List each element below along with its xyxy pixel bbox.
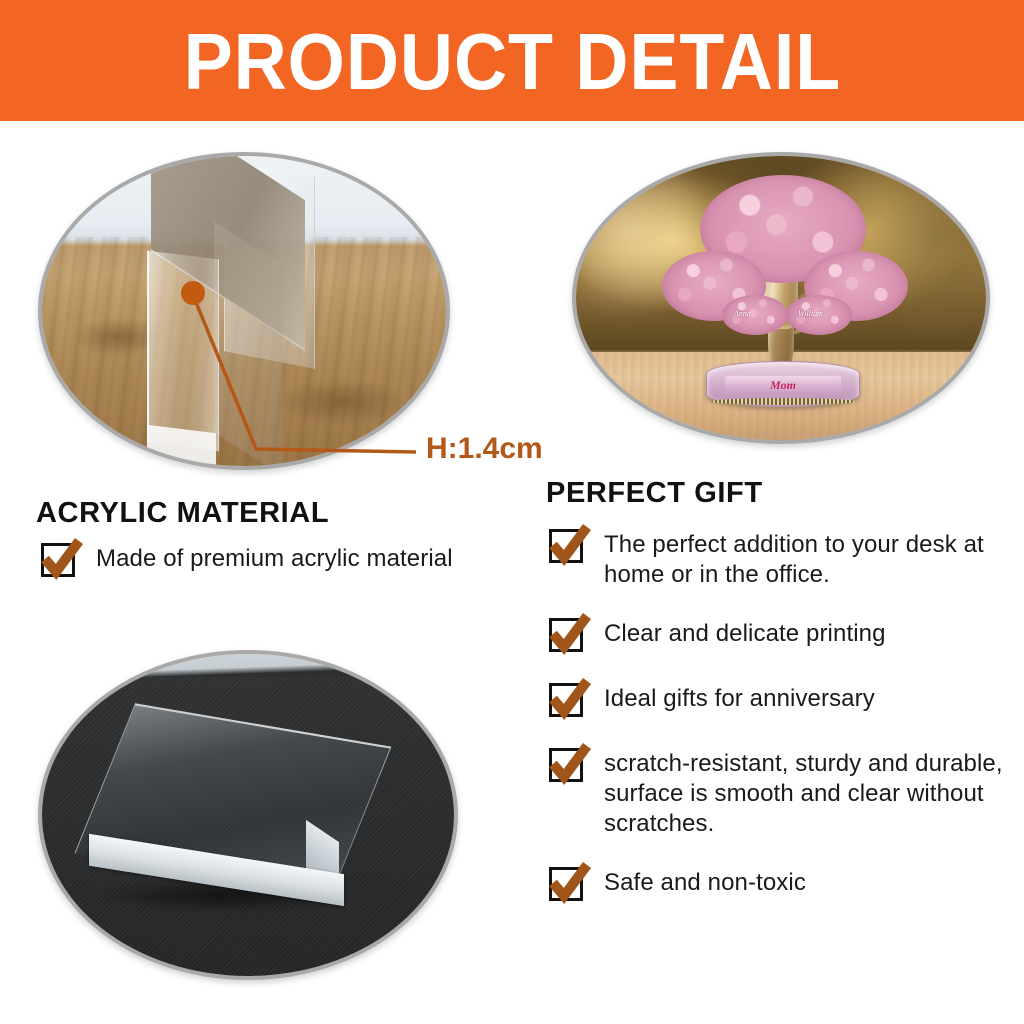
list-item: Made of premium acrylic material: [40, 537, 510, 577]
list-item-label: Safe and non-toxic: [604, 861, 806, 898]
section-heading-acrylic-material: ACRYLIC MATERIAL: [36, 497, 329, 530]
acrylic-slab-base-highlight: [147, 425, 216, 470]
list-item: Safe and non-toxic: [548, 861, 1010, 901]
acrylic-edge-scene: [42, 156, 446, 466]
checkmark-icon: [548, 742, 588, 782]
list-item: Clear and delicate printing: [548, 612, 1010, 652]
rose-tree-figurine: Anna William Mom: [656, 173, 906, 423]
figurine-base-ribbon: Mom: [725, 376, 841, 394]
acrylic-slab-side-face: [214, 221, 283, 470]
rose-cluster-mid-left: [722, 295, 788, 335]
checkmark-icon: [40, 537, 80, 577]
branch-name-tag-left: Anna: [734, 309, 751, 318]
checkmark-icon: [548, 523, 588, 563]
list-item: Ideal gifts for anniversary: [548, 677, 1010, 717]
list-item-label: The perfect addition to your desk at hom…: [604, 523, 1010, 590]
photo-acrylic-edge: [38, 152, 450, 470]
photo-acrylic-block: [38, 650, 458, 980]
header-banner: PRODUCT DETAIL: [0, 0, 1024, 121]
checklist-acrylic-material: Made of premium acrylic material: [40, 537, 510, 577]
list-item-label: Made of premium acrylic material: [96, 537, 453, 574]
list-item: The perfect addition to your desk at hom…: [548, 523, 1010, 590]
photo-figurine: Anna William Mom: [572, 152, 990, 444]
acrylic-block-scene: [42, 654, 454, 976]
wood-knot-secondary: [276, 379, 406, 425]
figurine-base-text: Mom: [770, 378, 796, 393]
list-item-label: Clear and delicate printing: [604, 612, 886, 649]
figurine-base: Mom: [706, 361, 860, 407]
list-item: scratch-resistant, sturdy and durable, s…: [548, 742, 1010, 839]
dimension-label: H:1.4cm: [426, 432, 543, 466]
checklist-perfect-gift: The perfect addition to your desk at hom…: [548, 523, 1010, 901]
figurine-scene: Anna William Mom: [576, 156, 986, 440]
branch-name-tag-right: William: [798, 309, 823, 318]
checkmark-icon: [548, 677, 588, 717]
list-item-label: scratch-resistant, sturdy and durable, s…: [604, 742, 1010, 839]
checkmark-icon: [548, 861, 588, 901]
acrylic-slab-front-face: [147, 251, 219, 452]
section-heading-perfect-gift: PERFECT GIFT: [546, 477, 763, 510]
figurine-base-rim: [711, 398, 855, 405]
page-title: PRODUCT DETAIL: [183, 22, 841, 102]
checkmark-icon: [548, 612, 588, 652]
list-item-label: Ideal gifts for anniversary: [604, 677, 875, 714]
